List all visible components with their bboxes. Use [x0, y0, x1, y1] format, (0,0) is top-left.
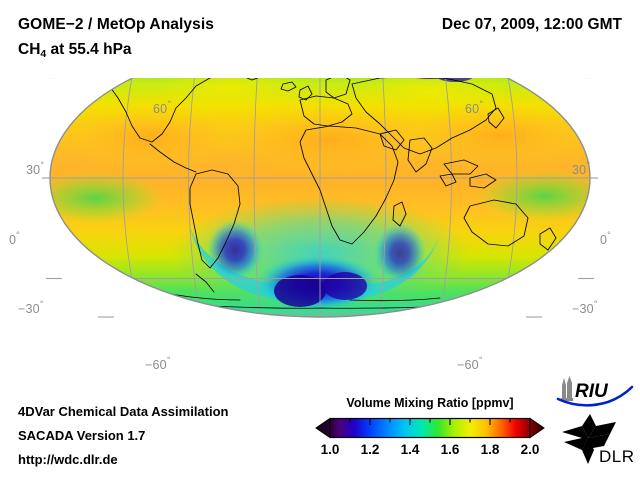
colorbar-tick-6: 2.0 [521, 442, 540, 457]
lat-label-left-60: 60° [153, 100, 171, 116]
lat-label-right-0: 0° [600, 231, 611, 247]
colorbar-tick-3: 1.4 [401, 442, 420, 457]
species-level-label: CH4 at 55.4 hPa [18, 41, 132, 59]
lat-label-left-30: 30° [26, 161, 44, 177]
lat-label-left-m30: −30° [18, 300, 44, 316]
lat-label-right-m30: −30° [572, 300, 598, 316]
lat-label-right-60: 60° [465, 100, 483, 116]
colorbar-tick-labels: 1.0 1.2 1.4 1.6 1.8 2.0 [312, 442, 548, 462]
colorbar-tick-1: 1.0 [321, 442, 340, 457]
colorbar-title: Volume Mixing Ratio [ppmv] [312, 396, 548, 410]
riu-logo: RIU [556, 376, 636, 410]
timestamp-label: Dec 07, 2009, 12:00 GMT [442, 16, 622, 34]
species-level-text: at 55.4 hPa [46, 41, 131, 58]
footer-url-link[interactable]: http://wdc.dlr.de [18, 452, 118, 467]
page-title: GOME−2 / MetOp Analysis [18, 16, 214, 34]
colorbar-scale[interactable] [312, 416, 548, 442]
dlr-logo: DLR [558, 412, 636, 468]
colorbar-low-arrow [316, 419, 330, 438]
lat-label-left-0: 0° [9, 231, 20, 247]
colorbar-legend: Volume Mixing Ratio [ppmv] [312, 396, 548, 472]
footer-method-label: 4DVar Chemical Data Assimilation [18, 404, 229, 419]
riu-tower-icon [561, 376, 573, 401]
colorbar-tick-2: 1.2 [361, 442, 380, 457]
species-formula-subscript: 4 [40, 48, 46, 60]
lat-label-right-30: 30° [572, 161, 590, 177]
riu-wordmark: RIU [575, 381, 609, 402]
mollweide-map [0, 78, 640, 383]
colorbar-tick-4: 1.6 [441, 442, 460, 457]
footer-version-label: SACADA Version 1.7 [18, 428, 145, 443]
world-map-panel: 60° 30° 0° −30° −60° 60° 30° 0° −30° −60… [0, 78, 640, 383]
species-formula-base: CH [18, 41, 40, 58]
colorbar-tick-5: 1.8 [481, 442, 500, 457]
colorbar-high-arrow [530, 419, 544, 438]
lat-label-left-m60: −60° [145, 356, 171, 372]
dlr-wordmark: DLR [599, 447, 635, 466]
lat-label-right-m60: −60° [457, 356, 483, 372]
